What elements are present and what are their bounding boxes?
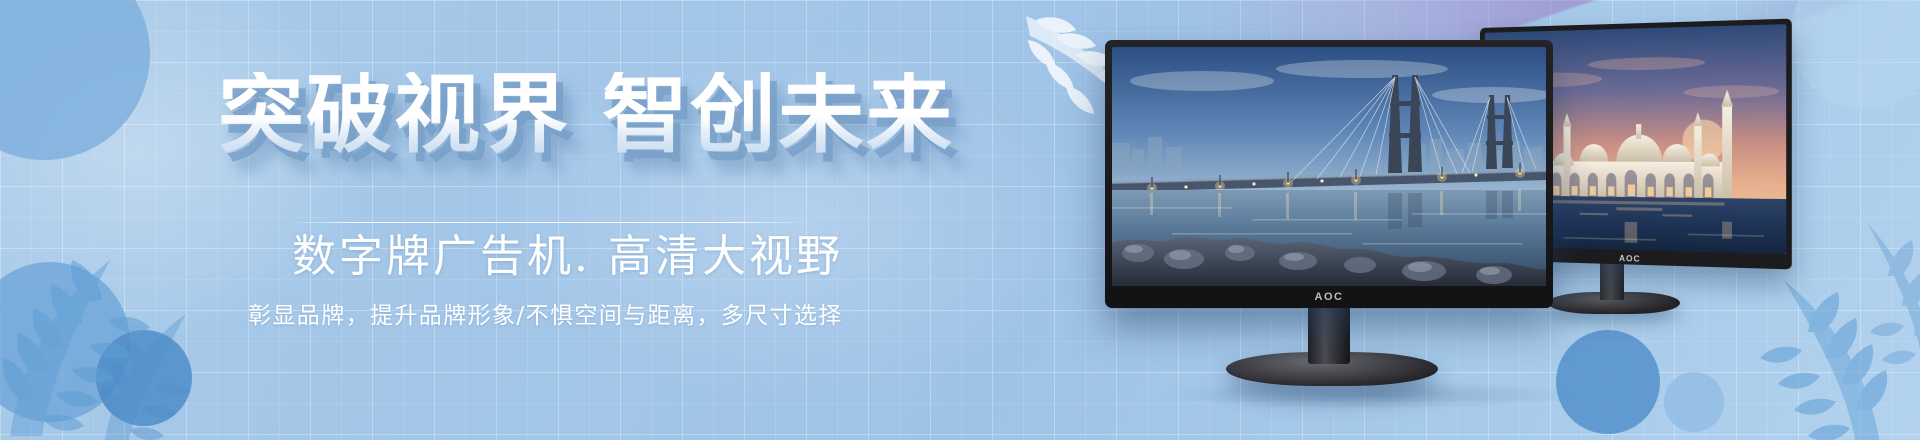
front-monitor-brand-logo: AOC [1105,291,1553,303]
front-monitor-stand [1308,304,1350,364]
promo-banner: 突破视界 智创未来 数字牌广告机. 高清大视野 彰显品牌，提升品牌形象/不惧空间… [0,0,1920,440]
front-monitor-screen [1112,47,1546,286]
headline-text-block: 突破视界 智创未来 数字牌广告机. 高清大视野 彰显品牌，提升品牌形象/不惧空间… [0,0,900,440]
bridge-waterfront-image [1112,47,1546,286]
subtitle: 数字牌广告机. 高清大视野 [292,232,843,283]
title-divider [290,222,810,223]
page-title: 突破视界 智创未来 [218,72,954,158]
product-monitors: AOC [1080,0,1800,440]
front-monitor: AOC [1105,40,1553,308]
fern-leaf-icon-right-edge [1810,150,1920,370]
tagline: 彰显品牌，提升品牌形象/不惧空间与距离，多尺寸选择 [248,296,843,330]
decorative-circle-top-right [1790,0,1920,110]
